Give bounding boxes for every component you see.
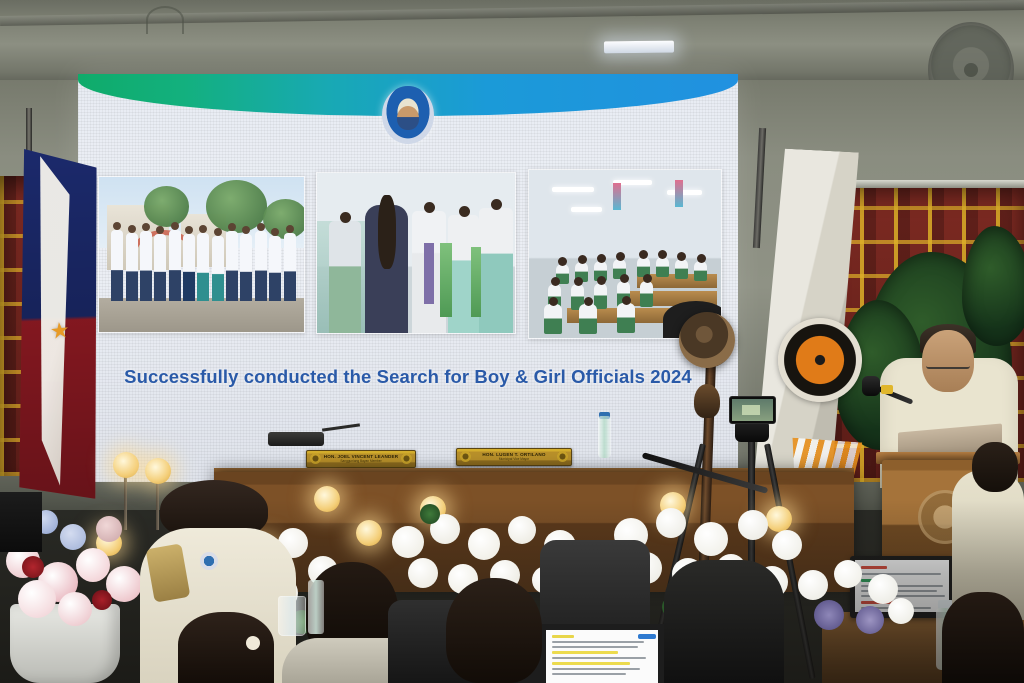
flower-arrangement-podium [790,546,920,656]
nameplate-seal-icon [460,451,471,462]
microphone-icon [862,376,880,396]
microphone-flag [881,385,893,394]
flag-star-icon: ★ [49,319,71,343]
decorative-lamp-icon [356,520,382,546]
projection-screen: Successfully conducted the Search for Bo… [78,74,738,482]
slide-photo-1 [98,176,305,333]
water-bottle [308,580,324,634]
phone-screen [732,399,773,421]
decorative-lamp-icon [113,452,139,478]
municipal-seal-icon [382,86,434,144]
audience-back-right [664,560,784,683]
audience-head-far-right [942,592,1024,683]
nameplate-title: Sangguniang Bayan Member [340,460,381,463]
nameplate-title: Municipal Vice Mayor [499,458,529,461]
nameplate-council-member: HON. JOEL VINCENT LEANDER Sangguniang Ba… [306,450,416,468]
nameplate-vice-mayor: HON. LUGEN T. ORTILANO Municipal Vice Ma… [456,448,572,466]
nameplate-seal-icon [401,453,412,464]
water-bottle [598,416,611,458]
slide-caption: Successfully conducted the Search for Bo… [78,366,738,388]
audience-head-front-left-2 [178,612,274,683]
slide-photo-3 [528,169,722,339]
ceiling-wire [146,6,184,34]
drinking-glass [278,596,306,636]
ceremonial-mace-knob [694,384,720,418]
hair-clip-icon [246,636,260,650]
standee-banner [0,492,42,552]
session-hall-photograph: Successfully conducted the Search for Bo… [0,0,1024,683]
laptop-screen [546,630,658,683]
desk-microphone-base [268,432,324,446]
audience-head-center-right [446,578,542,683]
smartphone-recording-icon [729,396,776,424]
speaker-head [922,330,974,392]
ceremonial-mace-icon [679,312,735,368]
fluorescent-light-icon [604,41,674,54]
slide-photo-2 [316,172,516,334]
audience-pin-icon [200,552,218,570]
laptop-with-highlighted-document [520,624,672,683]
nameplate-seal-icon [557,451,568,462]
nameplate-seal-icon [310,453,321,464]
seated-attendee-head [972,442,1018,492]
eyeglasses-icon [926,356,970,369]
decorative-lamp-icon [145,458,171,484]
